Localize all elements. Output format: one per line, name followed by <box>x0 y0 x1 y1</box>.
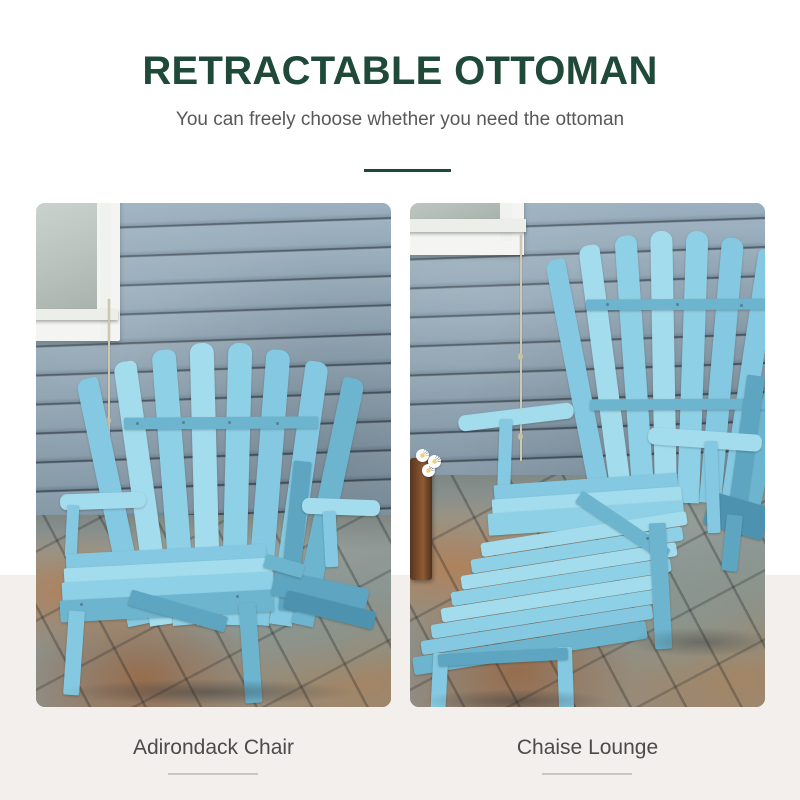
title-divider <box>364 169 451 172</box>
photo-scene-right <box>410 203 765 707</box>
header-block: RETRACTABLE OTTOMAN You can freely choos… <box>0 0 800 132</box>
chair-back-rail <box>124 416 318 429</box>
chair-arm-support-left <box>65 505 80 558</box>
marketing-image-canvas: RETRACTABLE OTTOMAN You can freely choos… <box>0 0 800 800</box>
screw <box>136 422 139 425</box>
page-title: RETRACTABLE OTTOMAN <box>0 0 800 95</box>
page-subtitle: You can freely choose whether you need t… <box>0 95 800 132</box>
caption-rule-right <box>542 773 632 775</box>
chair-back-rail <box>590 399 765 411</box>
screw <box>80 603 83 606</box>
chaise-lounge <box>410 203 765 707</box>
product-photo-adirondack-chair <box>36 203 391 707</box>
chair-shadow <box>58 679 358 705</box>
photo-scene-left <box>36 203 391 707</box>
product-photo-chaise-lounge <box>410 203 765 707</box>
chair-armrest-left <box>457 402 574 432</box>
caption-chaise-lounge: Chaise Lounge <box>410 735 765 761</box>
chair-back-slat <box>650 231 677 503</box>
screw <box>228 421 231 424</box>
caption-rule-left <box>168 773 258 775</box>
chair-arm-support-right <box>323 511 339 568</box>
screw <box>676 303 679 306</box>
screw <box>740 304 743 307</box>
screw <box>236 595 239 598</box>
screw <box>276 422 279 425</box>
chair-armrest-right <box>302 498 381 517</box>
adirondack-chair <box>36 203 391 707</box>
screw <box>606 303 609 306</box>
screw <box>182 421 185 424</box>
ottoman-shadow <box>420 689 610 707</box>
chair-shadow <box>626 627 765 657</box>
caption-adirondack-chair: Adirondack Chair <box>36 735 391 761</box>
chair-front-leg-left <box>63 611 85 696</box>
